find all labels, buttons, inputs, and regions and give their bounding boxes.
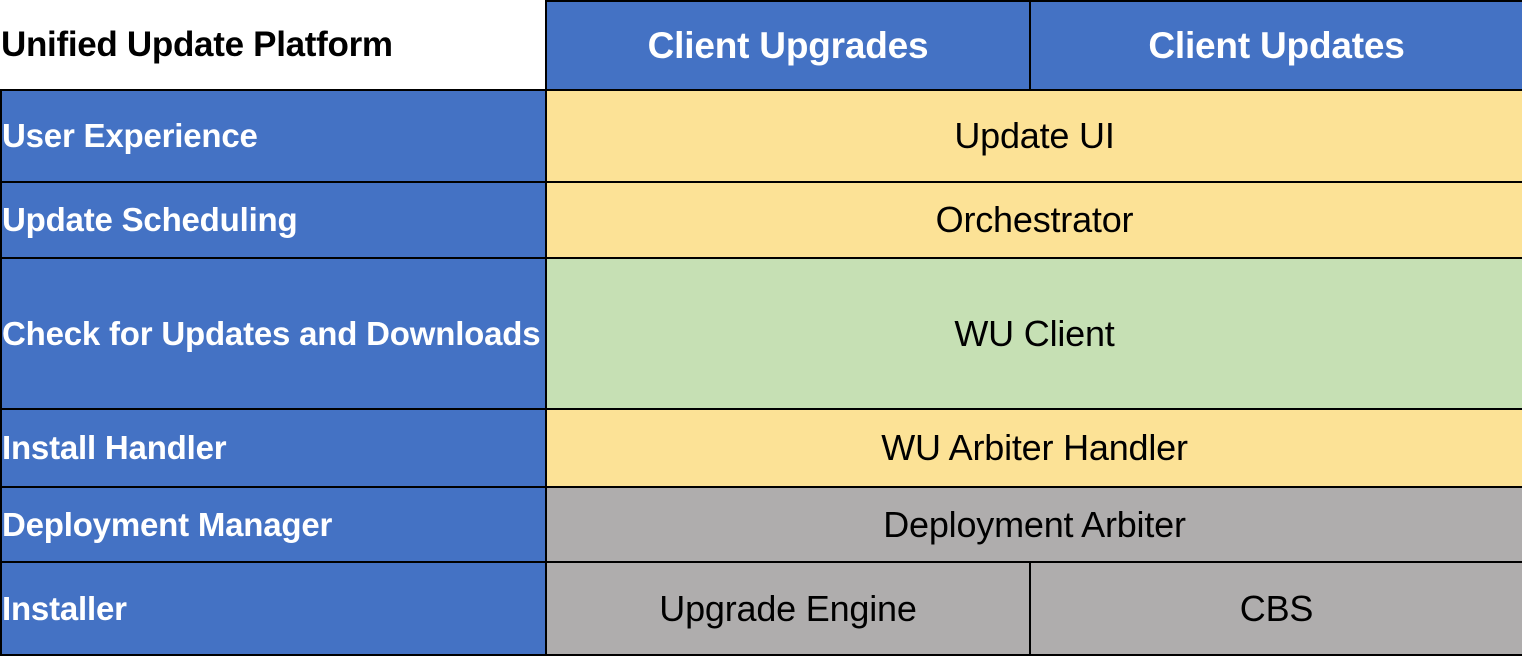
cell-cbs[interactable]: CBS [1030, 562, 1522, 655]
page-title: Unified Update Platform [1, 1, 546, 90]
cell-wu-arbiter-handler[interactable]: WU Arbiter Handler [546, 409, 1522, 487]
column-header-client-updates[interactable]: Client Updates [1030, 1, 1522, 90]
table-row: Installer Upgrade Engine CBS [1, 562, 1522, 655]
row-label-deployment-manager: Deployment Manager [1, 487, 546, 562]
row-label-user-experience: User Experience [1, 90, 546, 182]
unified-update-platform-table: Unified Update Platform Client Upgrades … [0, 0, 1522, 656]
cell-update-ui[interactable]: Update UI [546, 90, 1522, 182]
cell-deployment-arbiter[interactable]: Deployment Arbiter [546, 487, 1522, 562]
row-label-check-for-updates-and-downloads: Check for Updates and Downloads [1, 258, 546, 409]
table-row: Check for Updates and Downloads WU Clien… [1, 258, 1522, 409]
cell-wu-client[interactable]: WU Client [546, 258, 1522, 409]
cell-orchestrator[interactable]: Orchestrator [546, 182, 1522, 258]
cell-upgrade-engine[interactable]: Upgrade Engine [546, 562, 1030, 655]
column-header-client-upgrades[interactable]: Client Upgrades [546, 1, 1030, 90]
table-row: Update Scheduling Orchestrator [1, 182, 1522, 258]
row-label-update-scheduling: Update Scheduling [1, 182, 546, 258]
table-row: Install Handler WU Arbiter Handler [1, 409, 1522, 487]
row-label-install-handler: Install Handler [1, 409, 546, 487]
table-row: User Experience Update UI [1, 90, 1522, 182]
table-header-row: Unified Update Platform Client Upgrades … [1, 1, 1522, 90]
row-label-installer: Installer [1, 562, 546, 655]
table-row: Deployment Manager Deployment Arbiter [1, 487, 1522, 562]
